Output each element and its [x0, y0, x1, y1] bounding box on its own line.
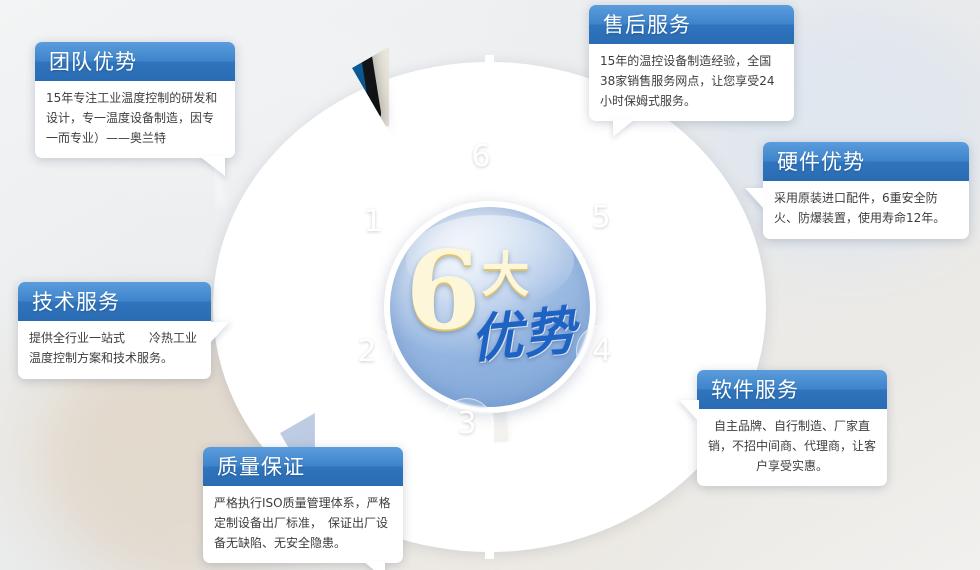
- callout-tail: [209, 322, 229, 344]
- callout-tail: [613, 119, 635, 137]
- callout-title: 软件服务: [697, 370, 887, 409]
- callout-hardware-advantage[interactable]: 硬件优势 采用原装进口配件，6重安全防火、防爆装置，使用寿命12年。: [763, 142, 969, 239]
- callout-tail: [679, 400, 699, 422]
- infographic-canvas: INTC 440.95: [0, 0, 980, 570]
- center-logo-badge: 6 大 优势: [384, 201, 596, 413]
- segment-number-badge-4[interactable]: 4: [576, 325, 628, 377]
- segment-number-badge-5[interactable]: 5: [575, 192, 627, 244]
- callout-title: 售后服务: [589, 5, 794, 44]
- callout-team-advantage[interactable]: 团队优势 15年专注工业温度控制的研发和设计，专一温度设备制造，因专一而专业）—…: [35, 42, 235, 158]
- logo-number: 6: [406, 237, 477, 345]
- callout-software-service[interactable]: 软件服务 自主品牌、自行制造、厂家直销，不招中间商、代理商，让客户享受实惠。: [697, 370, 887, 486]
- callout-after-sales-service[interactable]: 售后服务 15年的温控设备制造经验，全国38家销售服务网点，让您享受24小时保姆…: [589, 5, 794, 121]
- callout-body: 15年专注工业温度控制的研发和设计，专一温度设备制造，因专一而专业）——奥兰特: [35, 81, 235, 158]
- center-logo-disc: 6 大 优势: [390, 207, 590, 407]
- callout-body: 严格执行ISO质量管理体系，严格定制设备出厂标准， 保证出厂设备无缺陷、无安全隐…: [203, 486, 403, 563]
- segment-number-badge-1[interactable]: 1: [347, 196, 399, 248]
- callout-body: 自主品牌、自行制造、厂家直销，不招中间商、代理商，让客户享受实惠。: [697, 409, 887, 486]
- callout-title: 团队优势: [35, 42, 235, 81]
- callout-body: 15年的温控设备制造经验，全国38家销售服务网点，让您享受24小时保姆式服务。: [589, 44, 794, 121]
- callout-title: 技术服务: [18, 282, 211, 321]
- logo-script: 优势: [466, 289, 578, 373]
- callout-quality-assurance[interactable]: 质量保证 严格执行ISO质量管理体系，严格定制设备出厂标准， 保证出厂设备无缺陷…: [203, 447, 403, 563]
- callout-tail: [199, 156, 225, 176]
- callout-tail: [363, 561, 385, 570]
- callout-body: 提供全行业一站式 冷热工业温度控制方案和技术服务。: [18, 321, 211, 379]
- segment-number-badge-6[interactable]: 6: [455, 131, 507, 183]
- callout-tail: [745, 188, 765, 210]
- callout-technical-service[interactable]: 技术服务 提供全行业一站式 冷热工业温度控制方案和技术服务。: [18, 282, 211, 379]
- callout-title: 硬件优势: [763, 142, 969, 181]
- callout-title: 质量保证: [203, 447, 403, 486]
- segment-number-badge-2[interactable]: 2: [341, 326, 393, 378]
- segment-number-badge-3[interactable]: 3: [441, 398, 493, 450]
- callout-body: 采用原装进口配件，6重安全防火、防爆装置，使用寿命12年。: [763, 181, 969, 239]
